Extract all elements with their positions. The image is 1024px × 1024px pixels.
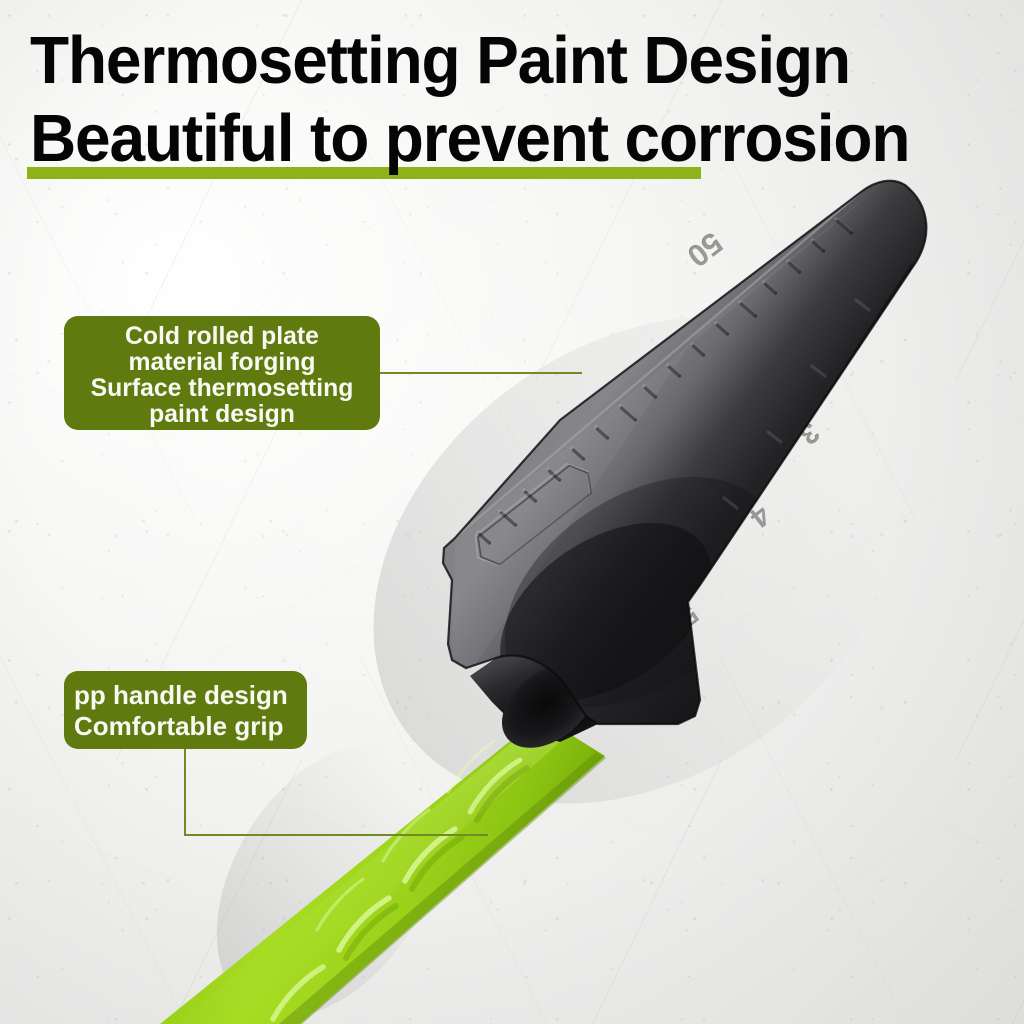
- callout-material-line-1: Cold rolled plate: [66, 323, 379, 349]
- leader-line-handle-horizontal: [184, 834, 488, 836]
- leader-line-handle-vertical: [184, 748, 186, 836]
- callout-material-line-2: material forging: [66, 349, 379, 375]
- headline-line-2: Beautiful to prevent corrosion: [30, 100, 975, 178]
- product-banner: 50 100 mm 1 2 3 4 5in deli DL580004 Cold…: [0, 0, 1024, 1024]
- headline-line-1: Thermosetting Paint Design: [30, 22, 975, 100]
- callout-handle-box: pp handle design Comfortable grip: [64, 671, 307, 749]
- callout-material-box: Cold rolled plate material forging Surfa…: [64, 316, 380, 430]
- callout-material-line-3: Surface thermosetting: [44, 375, 400, 401]
- headline-block: Thermosetting Paint Design Beautiful to …: [30, 22, 1020, 178]
- leader-line-material: [378, 372, 582, 374]
- callout-handle-line-1: pp handle design: [74, 680, 307, 711]
- callout-handle-line-2: Comfortable grip: [74, 711, 307, 742]
- callout-material-line-4: paint design: [66, 401, 379, 427]
